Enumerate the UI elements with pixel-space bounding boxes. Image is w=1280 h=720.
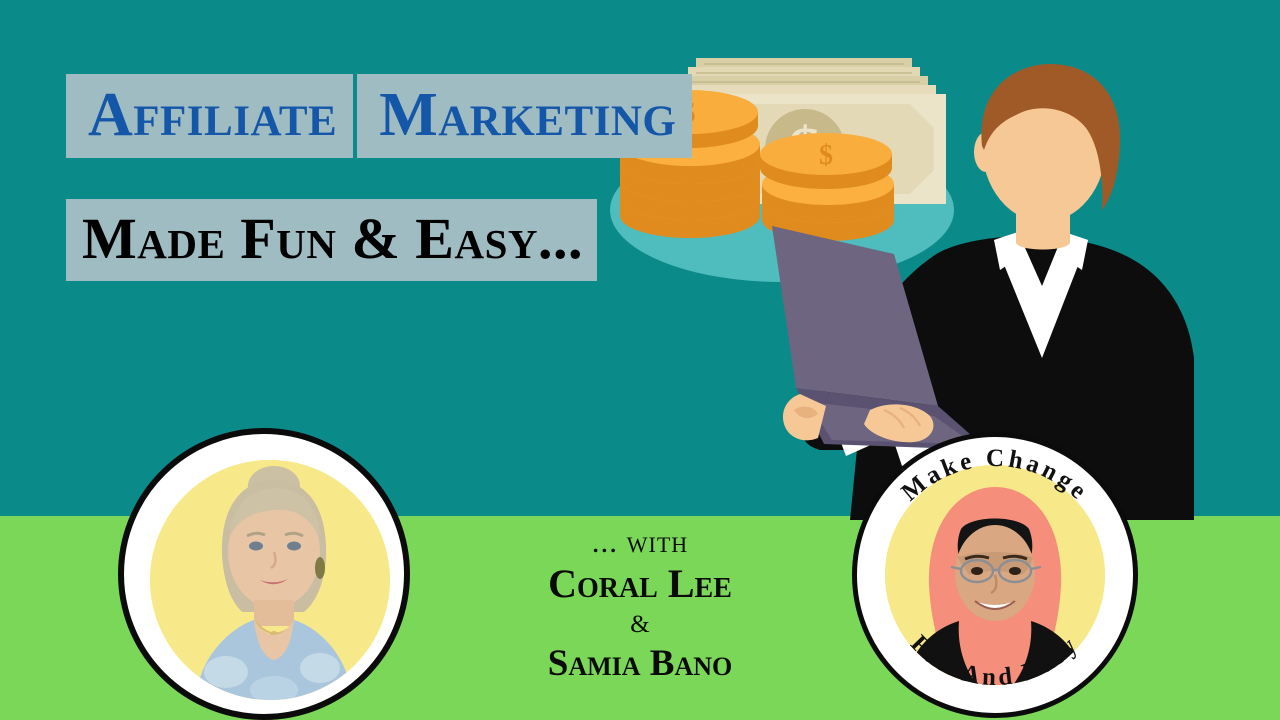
credits-name-coral-lee: Coral Lee bbox=[440, 561, 840, 607]
credits-ampersand: & bbox=[440, 609, 840, 640]
title-line-affiliate: Affiliate bbox=[66, 74, 353, 158]
credits-with-label: ... with bbox=[440, 524, 840, 560]
avatar-ring bbox=[118, 428, 410, 720]
title-line-marketing: Marketing bbox=[357, 74, 692, 158]
title-line-made-fun-easy: Made Fun & Easy... bbox=[66, 199, 597, 281]
title-block: Affiliate Marketing Made Fun & Easy... bbox=[66, 74, 726, 281]
avatar-coral-lee bbox=[118, 428, 410, 720]
thumbnail-canvas: $ $ bbox=[0, 0, 1280, 720]
credits-name-samia-bano: Samia Bano bbox=[440, 643, 840, 686]
credits-block: ... with Coral Lee & Samia Bano bbox=[440, 524, 840, 685]
badge-photo-samia-bano bbox=[885, 465, 1105, 685]
avatar-photo bbox=[150, 460, 390, 700]
make-change-badge: Make Change Fun And Easy bbox=[852, 432, 1138, 718]
